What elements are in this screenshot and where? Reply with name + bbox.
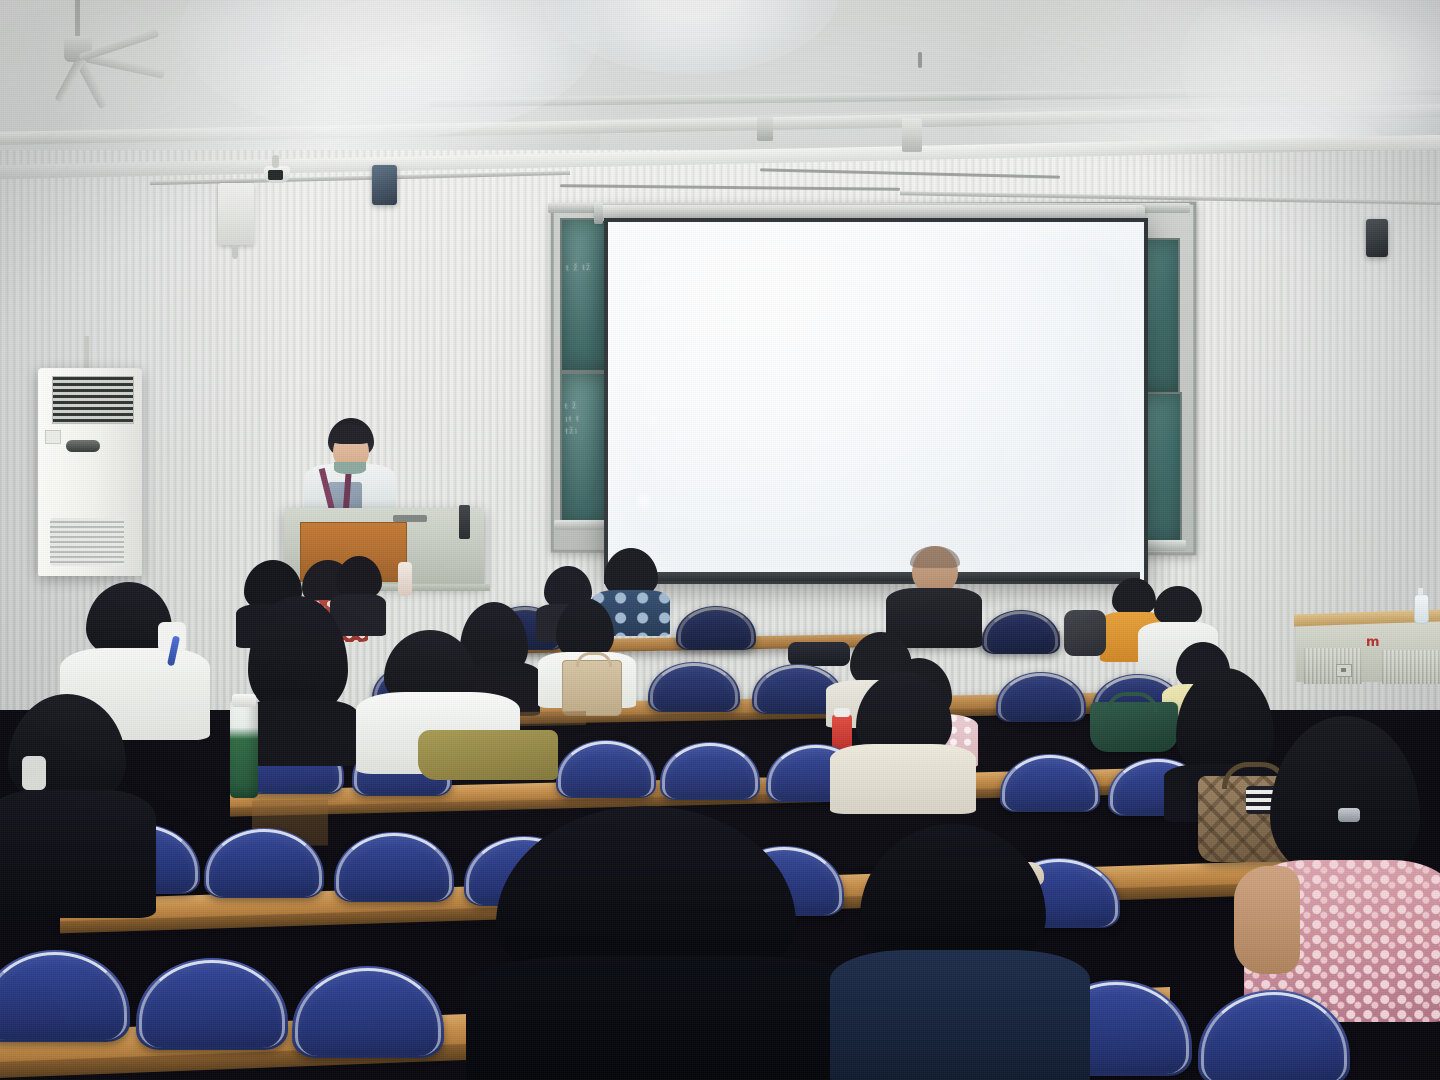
attendee-pink-floral-right	[1244, 716, 1440, 1016]
hair-clip	[1338, 808, 1360, 822]
desk-sign-m: m	[1366, 636, 1380, 649]
lecturer-fringe	[329, 424, 373, 444]
projector-mount	[757, 117, 773, 141]
ceiling-light-tube-1	[290, 22, 460, 34]
projection-screen[interactable]	[604, 218, 1148, 584]
sanitizer-bottle	[1414, 594, 1429, 624]
air-conditioner-display	[66, 440, 100, 452]
tote-bag-handle	[576, 652, 612, 667]
security-camera-mount	[272, 155, 279, 168]
podium-handle[interactable]	[393, 515, 427, 522]
air-conditioner-vent	[52, 376, 134, 424]
screen-bottom-bar	[604, 572, 1140, 581]
chair-r3-6[interactable]	[1000, 754, 1100, 812]
attendee-arm	[1234, 866, 1300, 974]
chair-r1-3[interactable]	[292, 966, 444, 1058]
wall-speaker-right	[1366, 219, 1388, 257]
attendee-bald-dark-shirt	[886, 546, 982, 646]
junction-box-stem	[232, 245, 238, 259]
water-bottle-cap	[232, 694, 256, 707]
junction-box	[218, 183, 254, 245]
attendee-dark-center-row3	[830, 672, 976, 804]
chair-r1-2[interactable]	[136, 958, 288, 1050]
ceiling-light-tube-2	[1248, 36, 1368, 48]
attendee-dark-foreground-center	[466, 806, 866, 1080]
ceiling-fixture-small	[902, 118, 922, 152]
ceiling-hook	[918, 52, 922, 68]
chalkboard-left-lower-text: ŧ ž ıŧ ŧ ŧžı	[565, 399, 610, 438]
wall-speaker-left	[372, 165, 397, 205]
lecture-hall-photo: ŧ ž ŧž ŧ ž ıŧ ŧ ŧžı ŧžŧ ıž ŧ ıŧ ž ŧ ŧ ıž…	[0, 0, 1440, 1080]
podium-monitor[interactable]	[459, 505, 470, 539]
chair-r3-3[interactable]	[556, 740, 656, 798]
jacket-olive	[418, 730, 558, 780]
power-outlet[interactable]	[1336, 664, 1352, 677]
lecturer-collar	[334, 462, 366, 474]
chair-r1-1[interactable]	[0, 950, 130, 1042]
attendee-navy-foreground-right	[830, 824, 1090, 1080]
attendee-dark-mask-foreground	[0, 694, 156, 914]
tote-bag-beige	[562, 660, 622, 716]
screen-bracket-left	[594, 202, 603, 224]
air-conditioner-intake	[50, 518, 124, 566]
security-camera-lens	[268, 170, 283, 180]
sanitizer-pump	[1418, 588, 1423, 596]
chair-r3-4[interactable]	[660, 742, 760, 800]
chair-r2-3[interactable]	[334, 832, 454, 902]
air-conditioner-logo	[45, 430, 61, 444]
water-bottle-green-tea	[230, 700, 258, 798]
podium-bottle	[398, 562, 412, 596]
face-mask-foreground	[22, 756, 46, 790]
backpack-gray-right	[1064, 610, 1106, 656]
